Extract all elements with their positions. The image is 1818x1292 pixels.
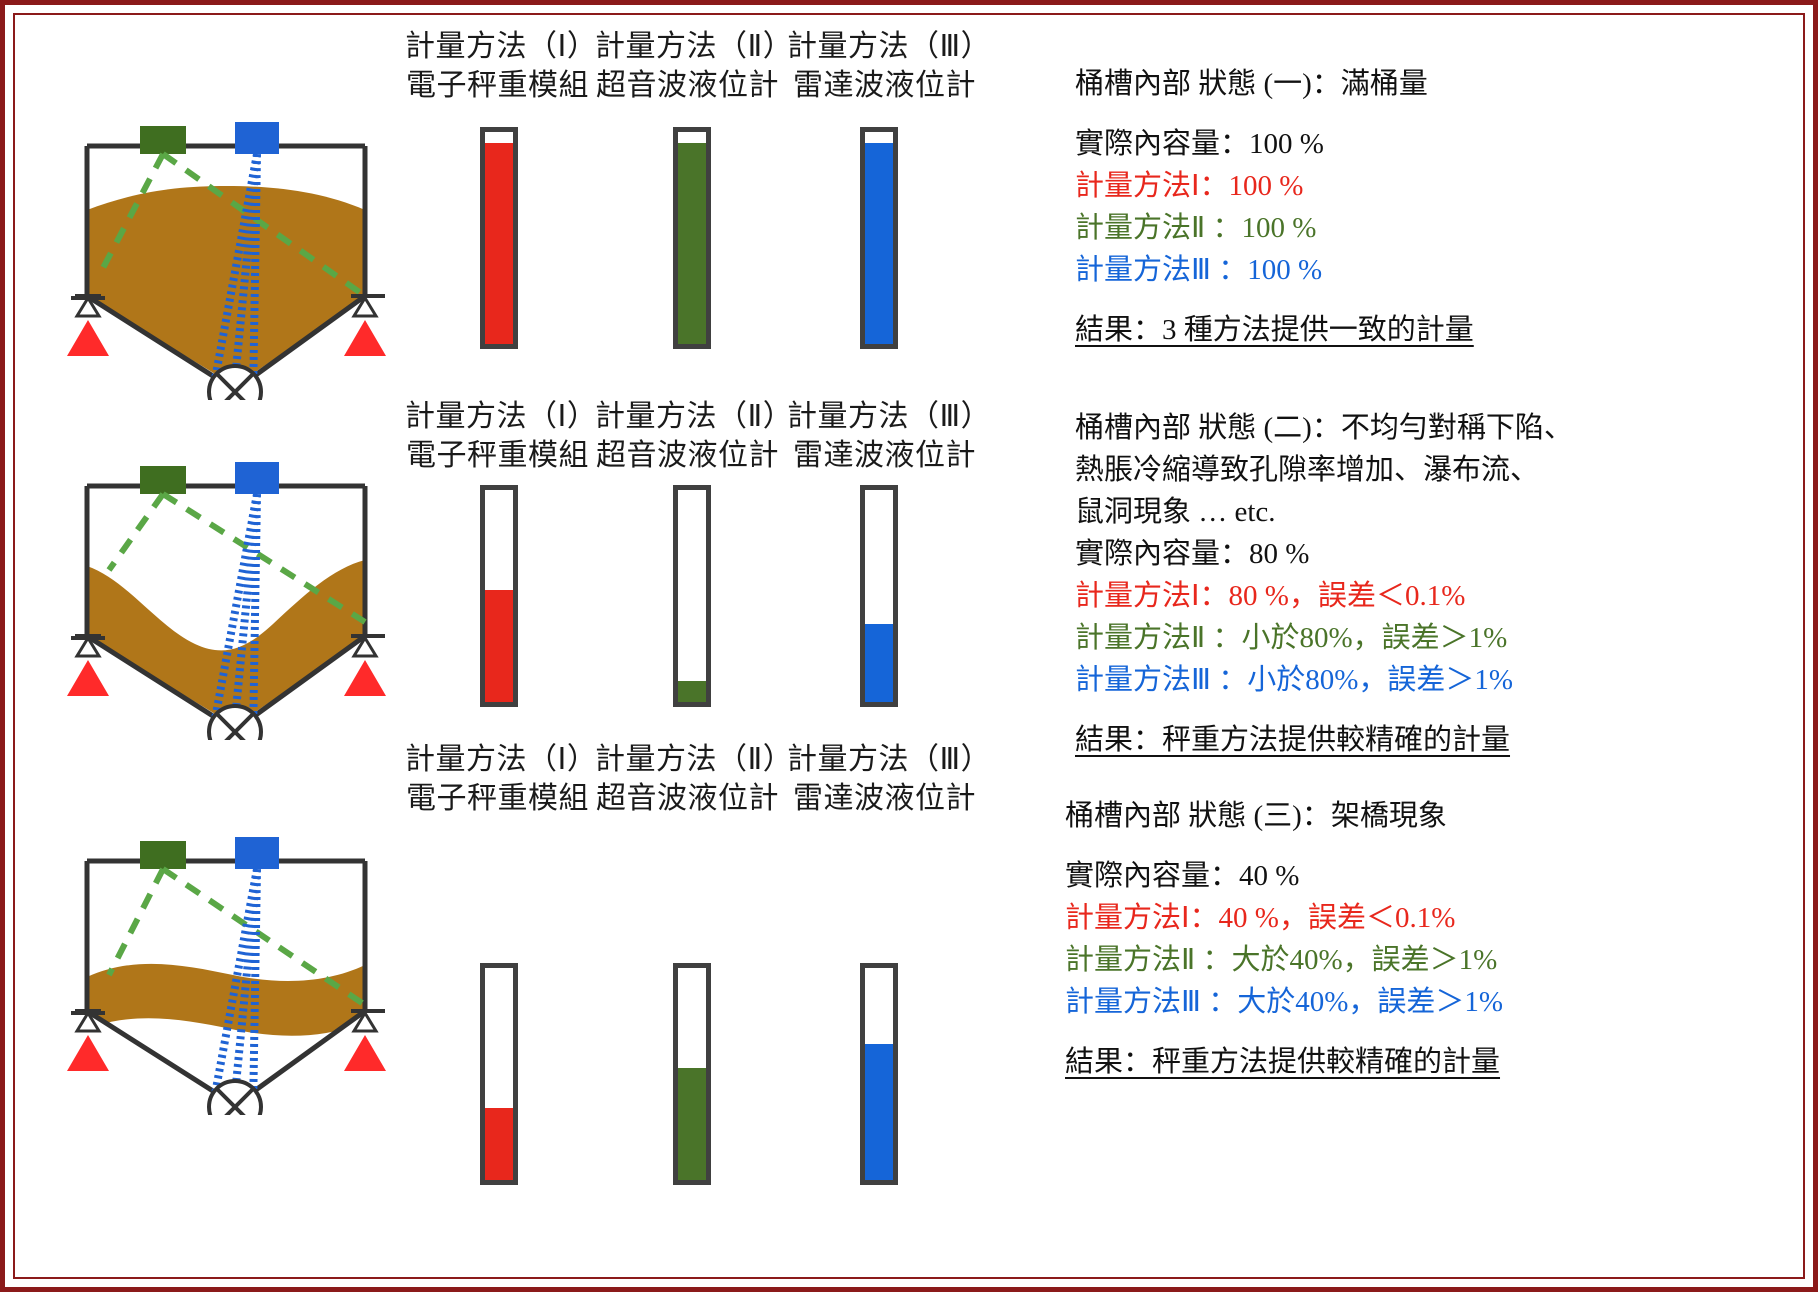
load-cell-right-icon (344, 320, 386, 356)
panel-3-text: 桶槽內部 狀態 (三)：架橋現象 實際內容量：40 % 計量方法Ⅰ：40 %，誤… (1065, 795, 1503, 1083)
spacer (1065, 837, 1503, 855)
gauge-fill (865, 624, 893, 702)
gauge-fill (485, 1108, 513, 1180)
ultrasonic-sensor-icon (140, 841, 186, 869)
header-line1: 計量方法（Ⅰ） (405, 743, 597, 776)
outlet-valve-icon (209, 1081, 261, 1115)
panel-3: 計量方法（Ⅰ） 電子秤重模組 計量方法（Ⅱ） 超音波液位計 計量方法（Ⅲ） 雷達… (5, 740, 1818, 1120)
load-cell-left-icon (67, 320, 109, 356)
gauge-fill (678, 1068, 706, 1180)
ultrasonic-sensor-icon (140, 126, 186, 154)
column-header-method-1: 計量方法（Ⅰ） 電子秤重模組 (405, 397, 590, 475)
gauge-method-3[interactable] (860, 485, 898, 707)
radar-sensor-icon (235, 837, 279, 869)
header-line1: 計量方法（Ⅰ） (405, 400, 597, 433)
column-header-method-2: 計量方法（Ⅱ） 超音波液位計 (595, 27, 780, 105)
gauge-fill (678, 143, 706, 344)
column-header-method-3: 計量方法（Ⅲ） 雷達波液位計 (787, 27, 982, 105)
state-title: 桶槽內部 狀態 (三)：架橋現象 (1065, 795, 1503, 837)
header-line2: 電子秤重模組 (405, 436, 590, 475)
gauge-fill (865, 143, 893, 344)
gauge-method-2[interactable] (673, 485, 711, 707)
gauge-method-3[interactable] (860, 127, 898, 349)
header-line1: 計量方法（Ⅲ） (787, 743, 991, 776)
column-header-method-3: 計量方法（Ⅲ） 雷達波液位計 (787, 740, 982, 818)
column-header-method-2: 計量方法（Ⅱ） 超音波液位計 (595, 740, 780, 818)
spacer (1075, 291, 1474, 309)
panel-2: 計量方法（Ⅰ） 電子秤重模組 計量方法（Ⅱ） 超音波液位計 計量方法（Ⅲ） 雷達… (5, 385, 1818, 745)
header-line1: 計量方法（Ⅲ） (787, 400, 991, 433)
method-3-reading: 計量方法Ⅲ ：小於80%，誤差＞1% (1075, 659, 1573, 701)
spacer (1065, 1023, 1503, 1041)
header-line2: 超音波液位計 (595, 436, 780, 475)
gauge-method-3[interactable] (860, 963, 898, 1185)
gauge-fill (678, 681, 706, 702)
column-header-method-1: 計量方法（Ⅰ） 電子秤重模組 (405, 27, 590, 105)
method-2-reading: 計量方法Ⅱ ：大於40%，誤差＞1% (1065, 939, 1503, 981)
result-line: 結果：3 種方法提供一致的計量 (1075, 309, 1474, 351)
ultrasonic-beam-left (109, 869, 163, 975)
gauge-method-1[interactable] (480, 485, 518, 707)
tank-illustration-ratholing (65, 440, 395, 745)
header-line1: 計量方法（Ⅱ） (595, 30, 793, 63)
gauge-fill (485, 143, 513, 344)
material-fill (87, 964, 365, 1036)
method-3-reading: 計量方法Ⅲ ：大於40%，誤差＞1% (1065, 981, 1503, 1023)
panel-1-text: 桶槽內部 狀態 (一)：滿桶量 實際內容量：100 % 計量方法Ⅰ：100 % … (1075, 63, 1474, 351)
load-cell-left-icon (67, 1035, 109, 1071)
material-fill (87, 560, 365, 728)
spacer (1075, 105, 1474, 123)
tank-illustration-full (65, 100, 395, 405)
load-cell-right-icon (344, 1035, 386, 1071)
header-line1: 計量方法（Ⅲ） (787, 30, 991, 63)
gauge-method-2[interactable] (673, 127, 711, 349)
gauge-fill (865, 1044, 893, 1180)
actual-content: 實際內容量：40 % (1065, 855, 1503, 897)
tank-illustration-bridging (65, 815, 395, 1120)
header-line2: 雷達波液位計 (787, 66, 982, 105)
state-desc-line-2: 鼠洞現象 … etc. (1075, 491, 1573, 533)
method-1-reading: 計量方法Ⅰ：40 %，誤差＜0.1% (1065, 897, 1503, 939)
actual-content: 實際內容量：100 % (1075, 123, 1474, 165)
method-2-reading: 計量方法Ⅱ ：小於80%，誤差＞1% (1075, 617, 1573, 659)
state-desc-line-1: 熱脹冷縮導致孔隙率增加、瀑布流、 (1075, 449, 1573, 491)
load-cell-right-icon (344, 660, 386, 696)
result-line: 結果：秤重方法提供較精確的計量 (1065, 1041, 1503, 1083)
header-line2: 超音波液位計 (595, 779, 780, 818)
panel-2-text: 桶槽內部 狀態 (二)：不均勻對稱下陷、 熱脹冷縮導致孔隙率增加、瀑布流、 鼠洞… (1075, 407, 1573, 761)
load-cell-left-icon (67, 660, 109, 696)
column-header-method-3: 計量方法（Ⅲ） 雷達波液位計 (787, 397, 982, 475)
gauge-method-2[interactable] (673, 963, 711, 1185)
outlet-valve-icon (209, 706, 261, 740)
method-3-reading: 計量方法Ⅲ ：100 % (1075, 249, 1474, 291)
spacer (1075, 701, 1573, 719)
header-line2: 電子秤重模組 (405, 779, 590, 818)
gauge-method-1[interactable] (480, 963, 518, 1185)
method-1-reading: 計量方法Ⅰ：100 % (1075, 165, 1474, 207)
method-1-reading: 計量方法Ⅰ：80 %，誤差＜0.1% (1075, 575, 1573, 617)
radar-sensor-icon (235, 122, 279, 154)
tank-svg (65, 815, 395, 1115)
gauge-fill (485, 590, 513, 702)
actual-content: 實際內容量：80 % (1075, 533, 1573, 575)
state-title: 桶槽內部 狀態 (二)：不均勻對稱下陷、 (1075, 407, 1573, 449)
header-line1: 計量方法（Ⅱ） (595, 400, 793, 433)
tank-svg (65, 440, 395, 740)
ultrasonic-beam-right (163, 494, 365, 622)
state-title: 桶槽內部 狀態 (一)：滿桶量 (1075, 63, 1474, 105)
header-line1: 計量方法（Ⅱ） (595, 743, 793, 776)
header-line2: 超音波液位計 (595, 66, 780, 105)
header-line1: 計量方法（Ⅰ） (405, 30, 597, 63)
column-header-method-2: 計量方法（Ⅱ） 超音波液位計 (595, 397, 780, 475)
method-2-reading: 計量方法Ⅱ ：100 % (1075, 207, 1474, 249)
radar-sensor-icon (235, 462, 279, 494)
ultrasonic-sensor-icon (140, 466, 186, 494)
panel-1: 計量方法（Ⅰ） 電子秤重模組 計量方法（Ⅱ） 超音波液位計 計量方法（Ⅲ） 雷達… (5, 5, 1818, 385)
gauge-method-1[interactable] (480, 127, 518, 349)
header-line2: 雷達波液位計 (787, 779, 982, 818)
header-line2: 電子秤重模組 (405, 66, 590, 105)
header-line2: 雷達波液位計 (787, 436, 982, 475)
diagram-page: 計量方法（Ⅰ） 電子秤重模組 計量方法（Ⅱ） 超音波液位計 計量方法（Ⅲ） 雷達… (0, 0, 1818, 1292)
tank-svg (65, 100, 395, 400)
column-header-method-1: 計量方法（Ⅰ） 電子秤重模組 (405, 740, 590, 818)
ultrasonic-beam-left (109, 494, 163, 570)
